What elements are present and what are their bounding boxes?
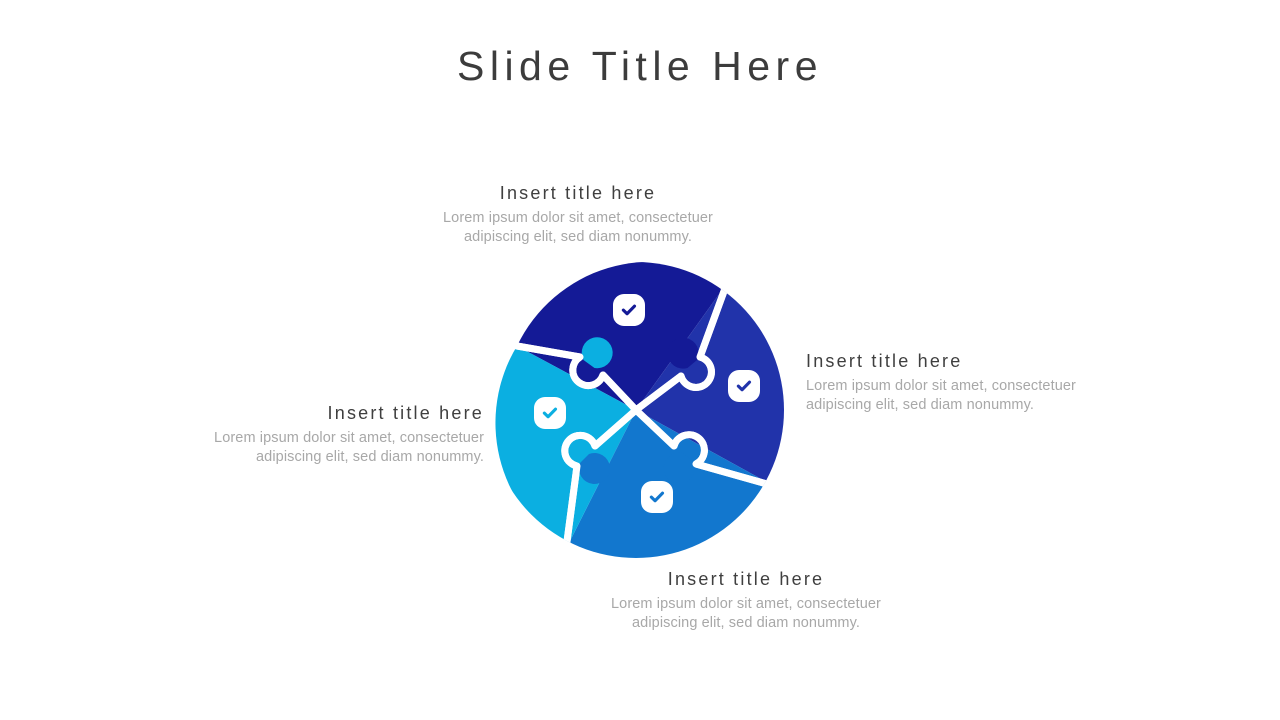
callout-top-body: Lorem ipsum dolor sit amet, consectetuer…	[400, 209, 756, 247]
callout-top[interactable]: Insert title here Lorem ipsum dolor sit …	[400, 182, 756, 247]
check-badge-icon-right-piece[interactable]	[728, 370, 760, 402]
check-badge-icon-top-left-piece[interactable]	[613, 294, 645, 326]
callout-bottom-body: Lorem ipsum dolor sit amet, consectetuer…	[566, 595, 926, 633]
callout-top-body-line2: adipiscing elit, sed diam nonummy.	[400, 228, 756, 247]
callout-bottom-title: Insert title here	[566, 568, 926, 591]
check-icon	[735, 377, 753, 395]
callout-right-body: Lorem ipsum dolor sit amet, consectetuer…	[806, 377, 1116, 415]
callout-top-title: Insert title here	[400, 182, 756, 205]
check-badge-icon-left-piece[interactable]	[534, 397, 566, 429]
callout-right-body-line1: Lorem ipsum dolor sit amet, consectetuer	[806, 377, 1116, 396]
callout-right[interactable]: Insert title here Lorem ipsum dolor sit …	[806, 350, 1116, 415]
callout-left-body: Lorem ipsum dolor sit amet, consectetuer…	[166, 429, 484, 467]
callout-top-body-line1: Lorem ipsum dolor sit amet, consectetuer	[400, 209, 756, 228]
check-icon	[541, 404, 559, 422]
callout-left-body-line1: Lorem ipsum dolor sit amet, consectetuer	[166, 429, 484, 448]
page-title: Slide Title Here	[0, 44, 1280, 89]
callout-left-body-line2: adipiscing elit, sed diam nonummy.	[166, 448, 484, 467]
check-badge-icon-bottom-piece[interactable]	[641, 481, 673, 513]
check-icon	[648, 488, 666, 506]
check-icon	[620, 301, 638, 319]
callout-bottom[interactable]: Insert title here Lorem ipsum dolor sit …	[566, 568, 926, 633]
callout-bottom-body-line2: adipiscing elit, sed diam nonummy.	[566, 614, 926, 633]
callout-right-body-line2: adipiscing elit, sed diam nonummy.	[806, 396, 1116, 415]
callout-bottom-body-line1: Lorem ipsum dolor sit amet, consectetuer	[566, 595, 926, 614]
slide-canvas: Slide Title Here Insert title here Lorem…	[0, 0, 1280, 720]
callout-left-title: Insert title here	[166, 402, 484, 425]
callout-left[interactable]: Insert title here Lorem ipsum dolor sit …	[166, 402, 484, 467]
callout-right-title: Insert title here	[806, 350, 1116, 373]
